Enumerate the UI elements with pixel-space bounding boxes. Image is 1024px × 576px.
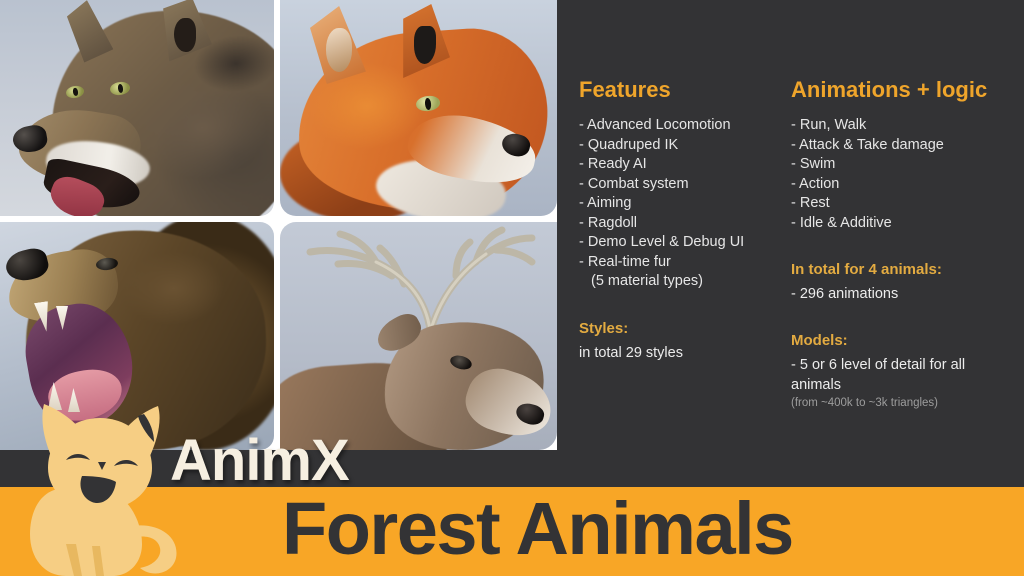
animal-photo-grid [0, 0, 557, 450]
list-item: - Combat system [579, 175, 789, 195]
list-item: - Action [791, 175, 1016, 195]
list-item: - Idle & Additive [791, 214, 1016, 234]
styles-heading: Styles: [579, 320, 789, 337]
promo-banner: Features - Advanced Locomotion - Quadrup… [0, 0, 1024, 576]
list-item: - Rest [791, 194, 1016, 214]
brand-name: AnimX [170, 427, 349, 494]
features-column: Features - Advanced Locomotion - Quadrup… [579, 78, 789, 363]
styles-value: in total 29 styles [579, 343, 789, 363]
list-item: - Ragdoll [579, 214, 789, 234]
page-title: Forest Animals [282, 486, 793, 572]
animations-heading: Animations + logic [791, 78, 1016, 102]
list-item: - Advanced Locomotion [579, 116, 789, 136]
list-item: - Swim [791, 155, 1016, 175]
list-item: - Real-time fur [579, 253, 789, 273]
models-heading: Models: [791, 332, 1016, 349]
list-item: - Run, Walk [791, 116, 1016, 136]
features-heading: Features [579, 78, 789, 102]
list-item: - Demo Level & Debug UI [579, 233, 789, 253]
fox-photo[interactable] [280, 0, 557, 216]
list-item: - Quadruped IK [579, 136, 789, 156]
list-item: - Attack & Take damage [791, 136, 1016, 156]
total-animations-value: - 296 animations [791, 284, 1016, 304]
list-item: - Aiming [579, 194, 789, 214]
features-list: - Advanced Locomotion - Quadruped IK - R… [579, 116, 789, 292]
cat-mascot-icon [4, 392, 182, 576]
animations-column: Animations + logic - Run, Walk - Attack … [791, 78, 1016, 411]
features-fur-note: (5 material types) [579, 272, 789, 292]
list-item: - Ready AI [579, 155, 789, 175]
wolf-photo[interactable] [0, 0, 274, 216]
deer-photo[interactable] [280, 222, 557, 450]
models-value: - 5 or 6 level of detail for all animals [791, 355, 1016, 395]
models-note: (from ~400k to ~3k triangles) [791, 395, 1016, 411]
animations-list: - Run, Walk - Attack & Take damage - Swi… [791, 116, 1016, 233]
info-panel: Features - Advanced Locomotion - Quadrup… [557, 0, 1024, 450]
total-animals-heading: In total for 4 animals: [791, 261, 1016, 278]
list-item-sub: (5 material types) [579, 272, 789, 292]
